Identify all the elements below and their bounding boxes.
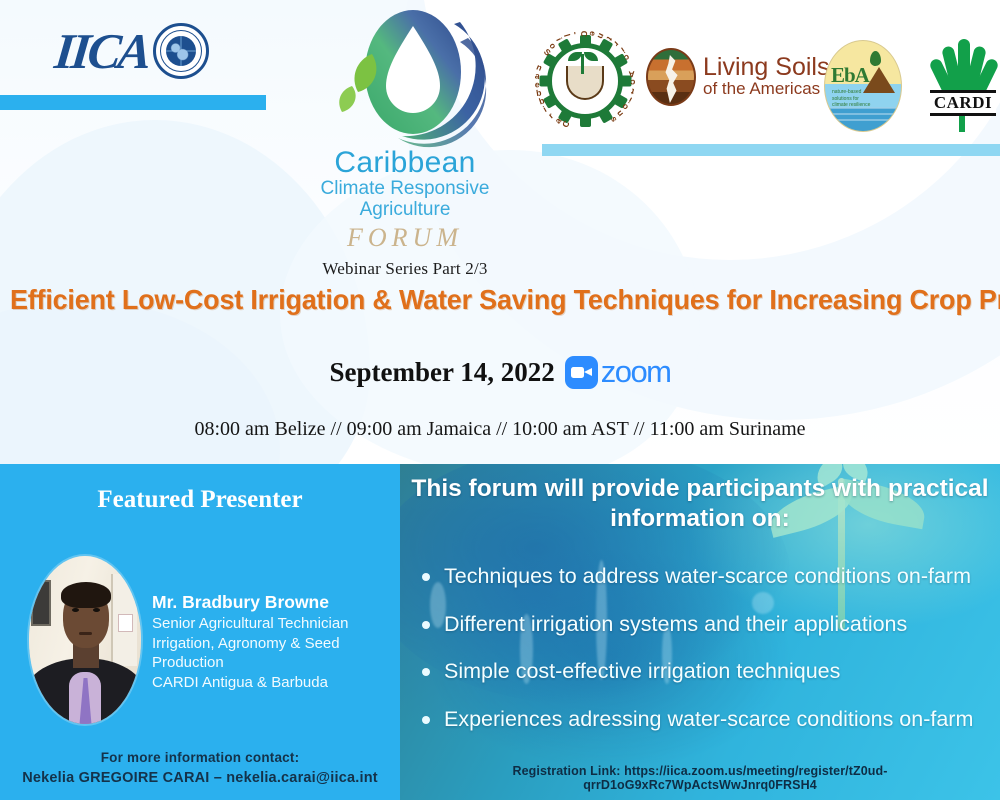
globe-grid-lines bbox=[166, 36, 196, 66]
contact-person[interactable]: Nekelia GREGOIRE CARAI – nekelia.carai@i… bbox=[0, 768, 400, 790]
flyer-canvas: IICA bbox=[0, 0, 1000, 800]
presenter-name: Mr. Bradbury Browne bbox=[152, 592, 400, 614]
eba-water-waves bbox=[825, 107, 901, 125]
info-panel-content: This forum will provide participants wit… bbox=[400, 464, 1000, 800]
portrait-wall-frame bbox=[31, 580, 51, 626]
iica-logo: IICA bbox=[55, 22, 209, 80]
presenter-role: Senior Agricultural Technician bbox=[152, 614, 400, 634]
living-soils-line1: Living Soils bbox=[703, 53, 829, 81]
contact-info: For more information contact: Nekelia GR… bbox=[0, 748, 400, 790]
portrait-hair bbox=[61, 582, 111, 608]
list-item: Simple cost-effective irrigation techniq… bbox=[414, 659, 1000, 684]
presenter-organization: CARDI Antigua & Barbuda bbox=[152, 673, 400, 693]
living-soils-logo: Living Soils of the Americas bbox=[646, 48, 829, 106]
eba-tagline: nature-based solutions for climate resil… bbox=[832, 89, 872, 109]
partner-logos: Caribbean Soil-Centric Actions Living So… bbox=[528, 18, 998, 138]
presenter-details: Mr. Bradbury Browne Senior Agricultural … bbox=[152, 592, 400, 693]
accent-bar-left bbox=[0, 95, 266, 110]
contact-label: For more information contact: bbox=[0, 748, 400, 768]
soil-layers-americas-icon bbox=[646, 48, 696, 106]
forum-logo: Caribbean Climate Responsive Agriculture… bbox=[290, 4, 520, 279]
registration-link[interactable]: Registration Link: https://iica.zoom.us/… bbox=[400, 764, 1000, 792]
eba-mountain-water-icon: EbA nature-based solutions for climate r… bbox=[824, 40, 902, 132]
cardi-leaf-icon: CARDI bbox=[928, 38, 998, 134]
timezone-list: 08:00 am Belize // 09:00 am Jamaica // 1… bbox=[0, 418, 1000, 441]
iica-wordmark: IICA bbox=[52, 22, 152, 80]
forum-logo-line3: FORUM bbox=[290, 223, 520, 253]
living-soils-line2: of the Americas bbox=[703, 79, 820, 98]
presenter-specialty: Irrigation, Agronomy & Seed Production bbox=[152, 634, 400, 674]
featured-presenter-heading: Featured Presenter bbox=[0, 486, 400, 514]
presenter-panel: Featured Presenter Mr. Bradbury Browne S… bbox=[0, 464, 400, 800]
eba-droplet-icon bbox=[870, 51, 881, 66]
accent-bar-right bbox=[542, 144, 1000, 156]
avatar bbox=[29, 556, 141, 724]
cardi-label: CARDI bbox=[930, 90, 996, 116]
living-soils-wordmark: Living Soils of the Americas bbox=[703, 55, 829, 99]
globe-icon bbox=[166, 36, 196, 66]
water-droplet-leaf-icon bbox=[310, 4, 500, 154]
caribbean-soil-centric-actions-ring-text: Caribbean Soil-Centric Actions bbox=[530, 26, 640, 136]
portrait-door-sign bbox=[118, 614, 133, 632]
globe-seal-icon bbox=[153, 23, 209, 79]
zoom-logo: zoom bbox=[565, 354, 671, 390]
gear-seedling-icon: Caribbean Soil-Centric Actions bbox=[530, 26, 640, 136]
webinar-series-subtitle: Webinar Series Part 2/3 bbox=[290, 259, 520, 279]
list-item: Techniques to address water-scarce condi… bbox=[414, 564, 1000, 589]
event-date-row: September 14, 2022 zoom bbox=[0, 354, 1000, 390]
zoom-camera-icon bbox=[565, 356, 598, 389]
event-date: September 14, 2022 bbox=[329, 357, 554, 388]
forum-logo-line2: Climate Responsive Agriculture bbox=[290, 179, 520, 221]
page-title: Efficient Low-Cost Irrigation & Water Sa… bbox=[10, 284, 990, 316]
info-panel: This forum will provide participants wit… bbox=[400, 464, 1000, 800]
portrait-eye-left bbox=[72, 608, 79, 612]
list-item: Different irrigation systems and their a… bbox=[414, 612, 1000, 637]
info-bullet-list: Techniques to address water-scarce condi… bbox=[414, 564, 1000, 755]
info-panel-heading: This forum will provide participants wit… bbox=[410, 474, 990, 534]
portrait-mouth bbox=[79, 632, 92, 635]
zoom-wordmark: zoom bbox=[601, 354, 671, 390]
portrait-eye-right bbox=[93, 608, 100, 612]
list-item: Experiences adressing water-scarce condi… bbox=[414, 707, 1000, 732]
